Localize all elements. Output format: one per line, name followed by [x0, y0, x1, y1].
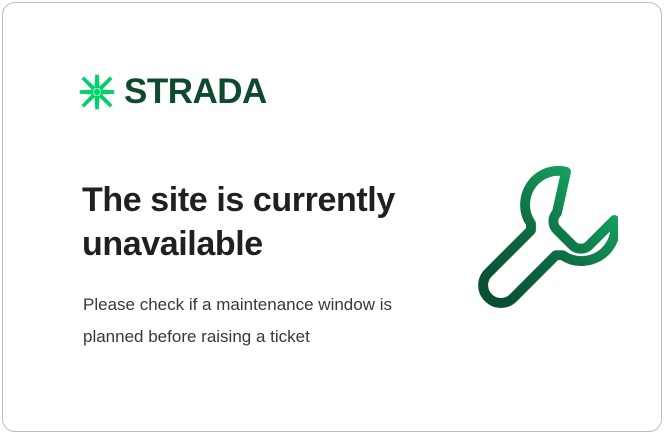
brand-wordmark: STRADA	[124, 74, 267, 110]
strada-asterisk-icon	[79, 74, 115, 110]
error-page: STRADA The site is currently unavailable…	[0, 0, 666, 436]
page-title: The site is currently unavailable	[82, 178, 412, 266]
wrench-icon	[458, 155, 618, 315]
status-card: STRADA The site is currently unavailable…	[2, 2, 662, 432]
brand-logo: STRADA	[79, 71, 267, 113]
page-description: Please check if a maintenance window is …	[83, 289, 393, 353]
